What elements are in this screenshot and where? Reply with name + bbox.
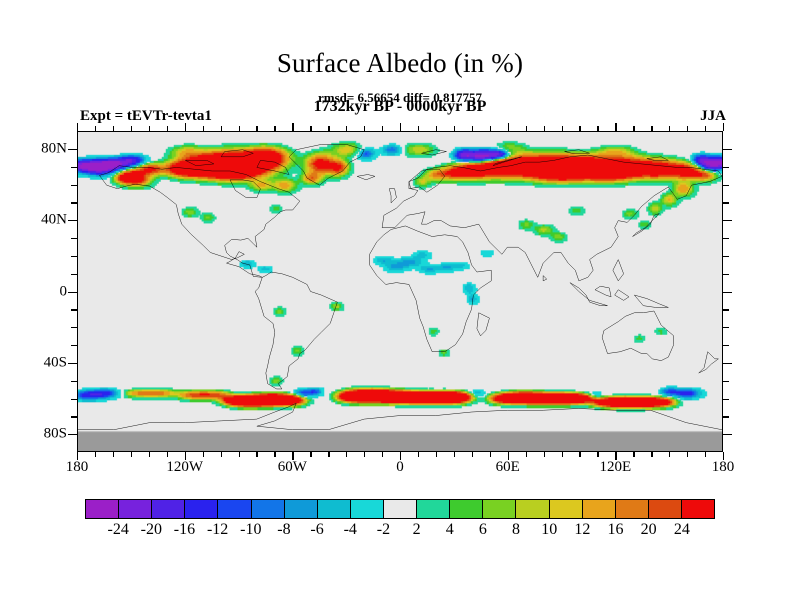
y-tick — [71, 327, 77, 328]
map-plot-area — [77, 131, 723, 452]
x-tick-top — [167, 126, 168, 131]
y-axis-label: 80N — [15, 140, 67, 157]
y-tick-right — [723, 381, 729, 382]
colorbar-cell-9 — [384, 500, 417, 518]
y-tick — [71, 399, 77, 400]
colorbar-tick-label: -24 — [107, 521, 128, 539]
x-axis-label: 180 — [66, 459, 89, 476]
y-tick-right — [723, 399, 729, 400]
x-tick — [113, 452, 114, 457]
y-axis-label: 80S — [15, 426, 67, 443]
x-tick-top — [723, 123, 724, 131]
colorbar-cell-13 — [516, 500, 549, 518]
x-tick-top — [95, 126, 96, 131]
page-title: Surface Albedo (in %) — [0, 48, 800, 79]
x-tick — [436, 452, 437, 457]
colorbar-cell-8 — [351, 500, 384, 518]
colorbar-cell-18 — [682, 500, 714, 518]
x-axis-label: 0 — [396, 459, 404, 476]
y-tick — [68, 220, 77, 221]
colorbar-cell-14 — [550, 500, 583, 518]
y-tick-right — [723, 167, 729, 168]
colorbar-tick-label: -20 — [141, 521, 162, 539]
x-tick — [274, 452, 275, 457]
x-tick — [310, 452, 311, 457]
x-tick — [454, 452, 455, 457]
colorbar-tick-label: 2 — [413, 521, 421, 539]
y-axis-label: 40N — [15, 212, 67, 229]
x-tick-top — [113, 126, 114, 131]
x-tick-top — [346, 126, 347, 131]
x-tick-top — [203, 126, 204, 131]
x-axis-label: 120W — [166, 459, 203, 476]
colorbar-tick-label: 4 — [446, 521, 454, 539]
x-tick-top — [705, 126, 706, 131]
y-tick — [71, 238, 77, 239]
y-axis-label: 0 — [15, 283, 67, 300]
x-tick-top — [149, 126, 150, 131]
x-tick — [203, 452, 204, 457]
x-tick — [597, 452, 598, 457]
colorbar-tick-label: -16 — [174, 521, 195, 539]
y-tick — [68, 292, 77, 293]
x-axis-label: 120E — [599, 459, 631, 476]
colorbar-cell-10 — [417, 500, 450, 518]
x-tick-top — [274, 126, 275, 131]
y-tick — [71, 256, 77, 257]
colorbar-cell-1 — [119, 500, 152, 518]
colorbar-tick-label: -2 — [377, 521, 390, 539]
x-tick — [633, 452, 634, 457]
colorbar-tick-label: 16 — [608, 521, 624, 539]
x-tick — [705, 452, 706, 457]
x-tick-top — [77, 123, 78, 131]
x-tick-top — [562, 126, 563, 131]
x-tick-top — [633, 126, 634, 131]
colorbar-cell-0 — [86, 500, 119, 518]
colorbar-cell-2 — [152, 500, 185, 518]
colorbar-tick-label: 8 — [512, 521, 520, 539]
x-tick — [256, 452, 257, 457]
y-tick-right — [723, 274, 729, 275]
x-axis-label: 180 — [712, 459, 735, 476]
x-axis-label: 60W — [278, 459, 307, 476]
x-tick — [526, 452, 527, 457]
y-tick — [71, 309, 77, 310]
y-tick-right — [723, 256, 729, 257]
inner-tick-overlay — [78, 132, 722, 451]
x-tick-top — [508, 123, 509, 131]
y-tick-right — [723, 220, 732, 221]
x-tick-top — [185, 123, 186, 131]
y-tick-right — [723, 434, 732, 435]
colorbar-labels: -24-20-16-12-10-8-6-4-224681012162024 — [85, 521, 715, 545]
colorbar-tick-label: -4 — [344, 521, 357, 539]
x-tick-top — [436, 126, 437, 131]
x-tick — [472, 452, 473, 457]
y-tick-right — [723, 202, 729, 203]
x-tick — [579, 452, 580, 457]
x-tick-top — [292, 123, 293, 131]
x-axis-label: 60E — [496, 459, 520, 476]
colorbar-cell-11 — [450, 500, 483, 518]
x-tick-top — [669, 126, 670, 131]
colorbar-tick-label: -6 — [310, 521, 323, 539]
x-tick-top — [364, 126, 365, 131]
x-tick-top — [131, 126, 132, 131]
x-tick-top — [615, 123, 616, 131]
y-tick-right — [723, 185, 729, 186]
x-tick — [687, 452, 688, 457]
colorbar-cell-17 — [649, 500, 682, 518]
x-tick — [382, 452, 383, 457]
experiment-label: Expt = tEVTr-tevta1 — [80, 108, 212, 125]
x-tick-top — [221, 126, 222, 131]
y-tick-right — [723, 309, 729, 310]
x-tick-top — [544, 126, 545, 131]
colorbar-tick-label: 12 — [574, 521, 590, 539]
colorbar-tick-label: -12 — [207, 521, 228, 539]
x-tick-top — [579, 126, 580, 131]
x-tick-top — [328, 126, 329, 131]
colorbar-cell-7 — [318, 500, 351, 518]
x-tick — [544, 452, 545, 457]
y-tick-right — [723, 149, 732, 150]
x-tick — [239, 452, 240, 457]
x-tick-top — [418, 126, 419, 131]
x-tick-top — [310, 126, 311, 131]
y-tick — [71, 185, 77, 186]
colorbar-cell-16 — [616, 500, 649, 518]
colorbar-tick-label: 6 — [479, 521, 487, 539]
y-tick — [71, 202, 77, 203]
y-tick — [68, 434, 77, 435]
x-tick — [418, 452, 419, 457]
colorbar-cell-5 — [252, 500, 285, 518]
y-tick — [68, 363, 77, 364]
y-tick-right — [723, 416, 729, 417]
colorbar-cell-15 — [583, 500, 616, 518]
y-tick-right — [723, 238, 729, 239]
y-tick — [71, 381, 77, 382]
colorbar-tick-label: -8 — [277, 521, 290, 539]
x-tick — [328, 452, 329, 457]
x-tick-top — [400, 123, 401, 131]
colorbar-cell-12 — [483, 500, 516, 518]
colorbar-tick-label: -10 — [240, 521, 261, 539]
colorbar-tick-label: 10 — [541, 521, 557, 539]
y-tick — [71, 167, 77, 168]
x-tick — [221, 452, 222, 457]
x-tick-top — [526, 126, 527, 131]
x-tick-top — [454, 126, 455, 131]
x-tick-top — [472, 126, 473, 131]
y-tick — [68, 149, 77, 150]
x-tick-top — [382, 126, 383, 131]
x-tick — [669, 452, 670, 457]
colorbar-tick-label: 24 — [674, 521, 690, 539]
y-tick-right — [723, 327, 729, 328]
x-tick-top — [651, 126, 652, 131]
x-tick-top — [597, 126, 598, 131]
y-tick-right — [723, 292, 732, 293]
y-tick — [71, 345, 77, 346]
x-tick-top — [256, 126, 257, 131]
x-tick — [95, 452, 96, 457]
y-tick-right — [723, 345, 729, 346]
x-tick-top — [239, 126, 240, 131]
x-tick — [149, 452, 150, 457]
colorbar-cell-3 — [185, 500, 218, 518]
y-tick — [71, 416, 77, 417]
x-tick — [562, 452, 563, 457]
colorbar — [85, 499, 715, 519]
x-tick — [346, 452, 347, 457]
x-tick-top — [490, 126, 491, 131]
x-tick — [131, 452, 132, 457]
x-tick — [167, 452, 168, 457]
colorbar-cell-4 — [218, 500, 251, 518]
colorbar-tick-label: 20 — [641, 521, 657, 539]
y-tick — [71, 274, 77, 275]
y-axis-label: 40S — [15, 354, 67, 371]
x-tick — [490, 452, 491, 457]
x-tick-top — [687, 126, 688, 131]
x-tick — [364, 452, 365, 457]
x-tick — [651, 452, 652, 457]
y-tick-right — [723, 363, 732, 364]
colorbar-cell-6 — [285, 500, 318, 518]
